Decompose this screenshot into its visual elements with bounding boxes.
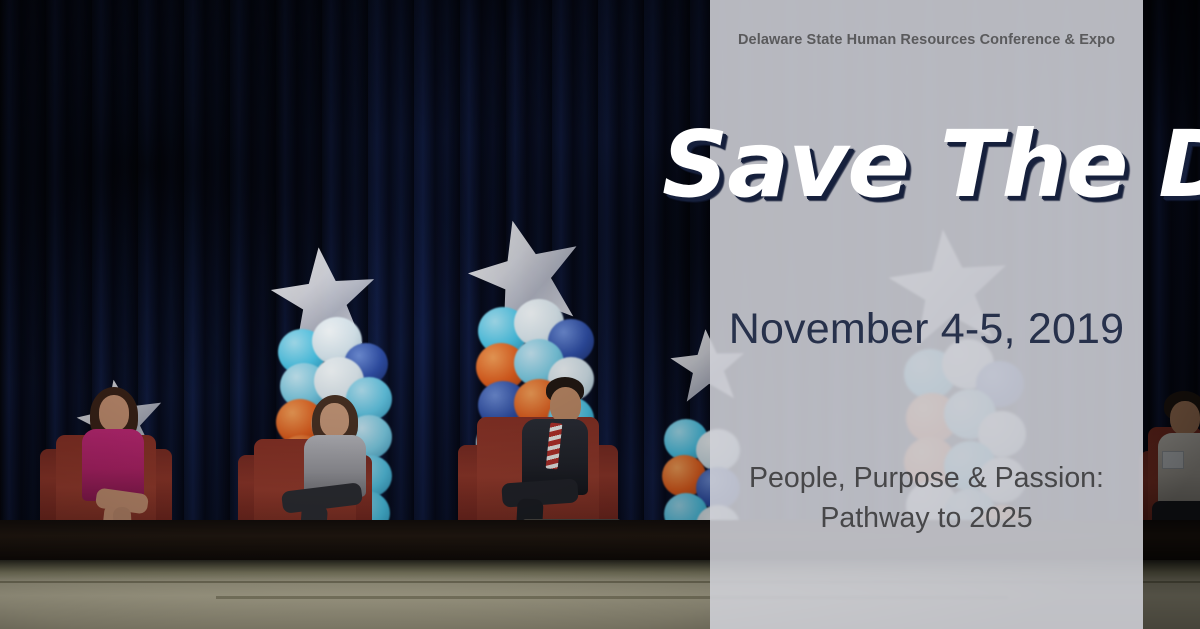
tagline-line-1: People, Purpose & Passion:: [710, 458, 1143, 498]
head: [99, 395, 129, 431]
event-date: November 4-5, 2019: [710, 306, 1143, 353]
torso: [1158, 433, 1200, 507]
page-title: Save The Date: [662, 118, 1200, 212]
head: [1170, 401, 1200, 435]
tagline-line-2: Pathway to 2025: [710, 498, 1143, 538]
head: [320, 403, 349, 437]
conference-name: Delaware State Human Resources Conferenc…: [710, 32, 1143, 48]
save-the-date-poster: Delaware State Human Resources Conferenc…: [0, 0, 1200, 629]
head: [550, 387, 581, 423]
event-tagline: People, Purpose & Passion: Pathway to 20…: [710, 458, 1143, 539]
name-badge: [1162, 451, 1184, 469]
